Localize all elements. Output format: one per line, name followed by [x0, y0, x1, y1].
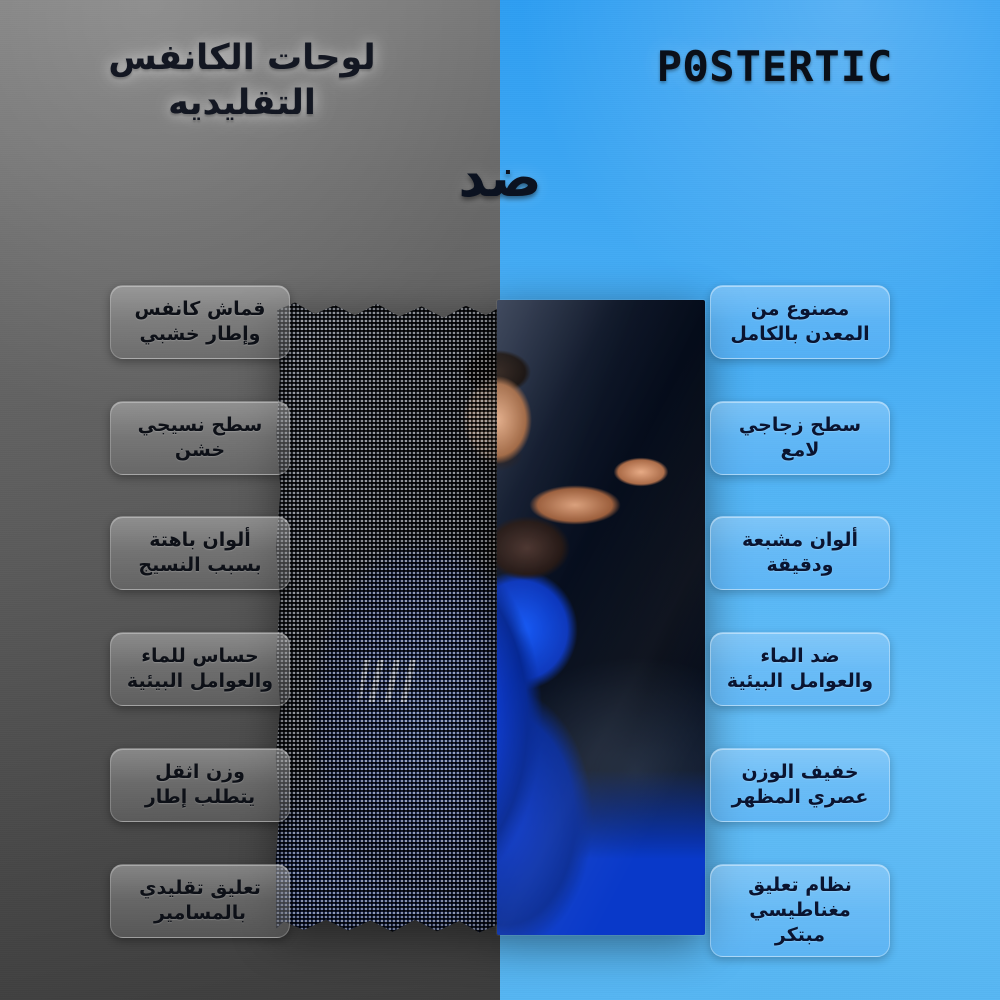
right-feature-pill-5[interactable]: خفيف الوزن عصري المظهر — [710, 748, 890, 822]
left-feature-pill-3[interactable]: ألوان باهتة بسبب النسيج — [110, 516, 290, 590]
brand-logo: POSTERTIC — [630, 42, 920, 91]
brand-logo-part2: STERTIC — [709, 42, 893, 91]
right-feature-pill-5-label: خفيف الوزن عصري المظهر — [723, 760, 877, 810]
right-feature-pill-2-label: سطح زجاجي لامع — [723, 413, 877, 463]
brand-logo-o-icon: O — [683, 42, 709, 91]
poster-canvas: لوحات الكانفس التقليديه POSTERTIC ضد قما… — [0, 0, 1000, 1000]
left-feature-pill-5[interactable]: وزن اثقل يتطلب إطار — [110, 748, 290, 822]
right-feature-pill-2[interactable]: سطح زجاجي لامع — [710, 401, 890, 475]
canvas-print-half — [275, 300, 497, 935]
right-feature-pill-1[interactable]: مصنوع من المعدن بالكامل — [710, 285, 890, 359]
comparison-artwork — [275, 300, 705, 935]
left-feature-pill-4-label: حساس للماء والعوامل البيئية — [123, 644, 277, 694]
left-feature-pill-1-label: قماش كانفس وإطار خشبي — [123, 297, 277, 347]
left-feature-pill-1[interactable]: قماش كانفس وإطار خشبي — [110, 285, 290, 359]
left-feature-pill-2[interactable]: سطح نسيجي خشن — [110, 401, 290, 475]
left-feature-pill-5-label: وزن اثقل يتطلب إطار — [123, 760, 277, 810]
left-feature-pill-4[interactable]: حساس للماء والعوامل البيئية — [110, 632, 290, 706]
right-feature-pill-1-label: مصنوع من المعدن بالكامل — [723, 297, 877, 347]
right-feature-pill-3[interactable]: ألوان مشبعة ودقيقة — [710, 516, 890, 590]
right-feature-pill-6[interactable]: نظام تعليق مغناطيسي مبتكر — [710, 864, 890, 957]
left-feature-pill-3-label: ألوان باهتة بسبب النسيج — [123, 528, 277, 578]
right-feature-pill-3-label: ألوان مشبعة ودقيقة — [723, 528, 877, 578]
right-feature-pill-4[interactable]: ضد الماء والعوامل البيئية — [710, 632, 890, 706]
brand-logo-part1: P — [657, 42, 683, 91]
right-feature-pill-6-label: نظام تعليق مغناطيسي مبتكر — [723, 873, 877, 948]
left-panel-title: لوحات الكانفس التقليديه — [62, 36, 422, 126]
canvas-photo — [275, 300, 497, 935]
left-feature-pill-2-label: سطح نسيجي خشن — [123, 413, 277, 463]
left-feature-pill-6-label: تعليق تقليدي بالمسامير — [123, 876, 277, 926]
right-feature-pill-4-label: ضد الماء والعوامل البيئية — [723, 644, 877, 694]
versus-label: ضد — [0, 146, 1000, 209]
left-feature-pill-6[interactable]: تعليق تقليدي بالمسامير — [110, 864, 290, 938]
metal-print-half — [497, 300, 705, 935]
metal-photo — [497, 300, 705, 935]
